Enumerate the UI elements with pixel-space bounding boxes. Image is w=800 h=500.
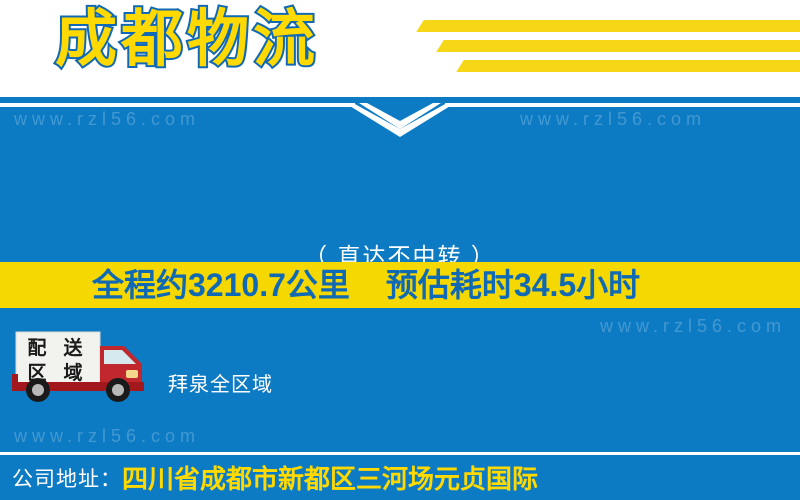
divider-line-left <box>0 103 355 107</box>
page-title: 成都物流 <box>55 4 319 75</box>
direct-shipping-note: （ 直达不中转 ） <box>0 237 800 262</box>
watermark: www.rzl56.com <box>14 426 200 447</box>
address-label: 公司地址： <box>12 463 122 493</box>
decorative-stripes <box>400 14 800 84</box>
chevron-down-icon <box>345 97 455 139</box>
logistics-banner: 成都物流 （ 直达不中转 ） 成都 拜泉 <box>0 0 800 500</box>
stripe-1 <box>416 20 800 32</box>
chevron-divider <box>0 103 800 143</box>
stripe-2 <box>436 40 800 52</box>
truck-label-char-1: 配 <box>27 339 46 358</box>
divider-header <box>0 94 800 97</box>
truck-label-char-3: 区 <box>27 364 46 383</box>
metrics-band: 全程约3210.7公里 预估耗时34.5小时 <box>0 262 800 308</box>
truck-label-char-2: 送 <box>63 339 82 358</box>
divider-line-right <box>445 103 800 107</box>
route-panel: （ 直达不中转 ） 成都 拜泉 【往返运输】 www.rzl56.com www… <box>0 97 800 262</box>
address-value: 四川省成都市新都区三河场元贞国际 <box>122 459 538 496</box>
truck-box-label: 配 送 区 域 <box>19 336 91 386</box>
banner-header: 成都物流 <box>0 0 800 97</box>
stripe-3 <box>456 60 800 72</box>
watermark: www.rzl56.com <box>600 316 786 337</box>
distance-value: 全程约3210.7公里 <box>92 269 350 301</box>
address-bar: 公司地址： 四川省成都市新都区三河场元贞国际 <box>0 455 800 500</box>
truck-label-char-4: 域 <box>63 364 82 383</box>
duration-value: 预估耗时34.5小时 <box>386 269 640 301</box>
coverage-area-text: 拜泉全区域 <box>168 368 273 397</box>
